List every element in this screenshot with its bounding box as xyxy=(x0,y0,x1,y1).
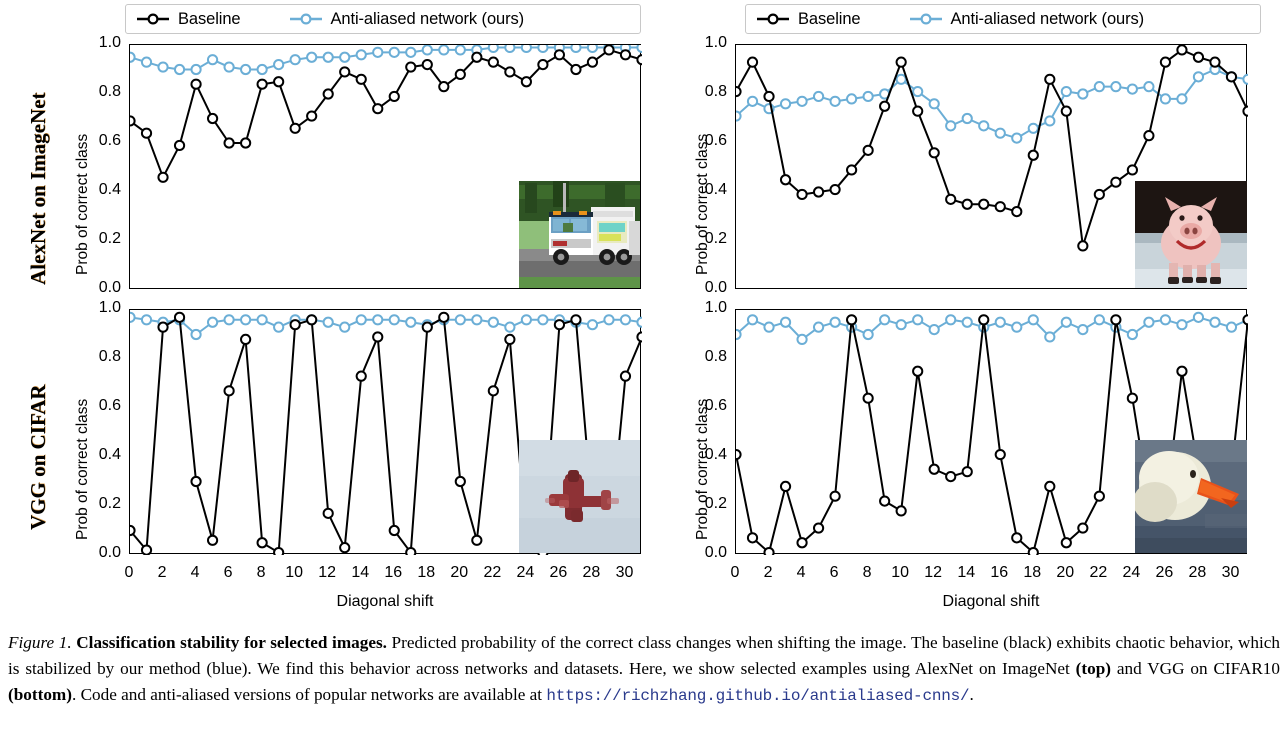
data-point-marker xyxy=(158,173,167,182)
data-point-marker xyxy=(208,55,217,64)
data-point-marker xyxy=(142,58,151,67)
x-axis-label: Diagonal shift xyxy=(735,593,1247,611)
data-point-marker xyxy=(979,315,988,324)
legend-line-marker-icon xyxy=(136,12,170,26)
data-point-marker xyxy=(814,187,823,196)
data-point-marker xyxy=(1144,82,1153,91)
data-point-marker xyxy=(1210,58,1219,67)
data-point-marker xyxy=(571,315,580,324)
data-point-marker xyxy=(340,53,349,62)
data-point-marker xyxy=(522,315,531,324)
data-point-marker xyxy=(472,315,481,324)
y-tick-label: 1.0 xyxy=(683,34,727,52)
data-point-marker xyxy=(1062,538,1071,547)
data-point-marker xyxy=(423,60,432,69)
data-point-marker xyxy=(864,146,873,155)
data-point-marker xyxy=(979,121,988,130)
data-point-marker xyxy=(505,323,514,332)
data-point-marker xyxy=(1095,82,1104,91)
data-point-marker xyxy=(258,315,267,324)
data-point-marker xyxy=(880,102,889,111)
data-point-marker xyxy=(175,313,184,322)
figure-1-root: Baseline Anti-aliased network (ours) Bas… xyxy=(0,0,1286,745)
data-point-marker xyxy=(748,58,757,67)
legend-label-baseline: Baseline xyxy=(178,10,241,29)
legend-entry-antialiased-right: Anti-aliased network (ours) xyxy=(909,10,1145,29)
data-point-marker xyxy=(847,165,856,174)
data-point-marker xyxy=(208,114,217,123)
caption-bold-top: (top) xyxy=(1076,659,1111,678)
data-point-marker xyxy=(1128,330,1137,339)
data-point-marker xyxy=(1210,318,1219,327)
data-point-marker xyxy=(1177,320,1186,329)
x-tick-label: 30 xyxy=(1210,564,1250,582)
data-point-marker xyxy=(880,315,889,324)
series-line xyxy=(130,50,642,177)
legend-line-marker-icon xyxy=(756,12,790,26)
data-point-marker xyxy=(208,536,217,545)
y-tick-label: 0.0 xyxy=(683,544,727,562)
data-point-marker xyxy=(814,92,823,101)
y-tick-label: 0.2 xyxy=(683,495,727,513)
data-point-marker xyxy=(1194,72,1203,81)
figure-caption: Figure 1. Classification stability for s… xyxy=(8,630,1280,709)
data-point-marker xyxy=(831,185,840,194)
y-tick-label: 0.6 xyxy=(683,132,727,150)
data-point-marker xyxy=(1045,332,1054,341)
data-point-marker xyxy=(538,60,547,69)
data-point-marker xyxy=(373,315,382,324)
data-point-marker xyxy=(456,70,465,79)
data-point-marker xyxy=(505,67,514,76)
data-point-marker xyxy=(1177,45,1186,54)
data-point-marker xyxy=(1078,89,1087,98)
data-point-marker xyxy=(831,318,840,327)
data-point-marker xyxy=(930,99,939,108)
caption-text-3: . Code and anti-aliased versions of popu… xyxy=(72,685,546,704)
data-point-marker xyxy=(307,315,316,324)
data-point-marker xyxy=(406,62,415,71)
data-point-marker xyxy=(130,313,135,322)
data-point-marker xyxy=(621,372,630,381)
data-point-marker xyxy=(736,450,741,459)
data-point-marker xyxy=(1029,124,1038,133)
data-point-marker xyxy=(505,335,514,344)
caption-url-link[interactable]: https://richzhang.github.io/antialiased-… xyxy=(546,687,969,705)
caption-title: Classification stability for selected im… xyxy=(76,633,387,652)
data-point-marker xyxy=(324,89,333,98)
series-line xyxy=(736,70,1248,139)
data-point-marker xyxy=(748,315,757,324)
data-point-marker xyxy=(307,53,316,62)
data-point-marker xyxy=(357,315,366,324)
data-point-marker xyxy=(930,148,939,157)
legend-line-marker-icon xyxy=(909,12,943,26)
y-tick-label: 0.2 xyxy=(77,495,121,513)
y-tick-label: 0.6 xyxy=(77,397,121,415)
data-point-marker xyxy=(158,62,167,71)
data-point-marker xyxy=(439,45,448,54)
legend-entry-baseline-right: Baseline xyxy=(756,10,861,29)
data-point-marker xyxy=(996,450,1005,459)
caption-text-4: . xyxy=(969,685,973,704)
series-line xyxy=(130,47,642,69)
data-point-marker xyxy=(963,114,972,123)
y-axis-label: Prob of correct class xyxy=(694,134,712,275)
y-tick-label: 0.8 xyxy=(683,83,727,101)
data-point-marker xyxy=(781,99,790,108)
data-point-marker xyxy=(130,116,135,125)
legend-label-antialiased: Anti-aliased network (ours) xyxy=(331,10,525,29)
data-point-marker xyxy=(1029,151,1038,160)
data-point-marker xyxy=(864,92,873,101)
series-antialiased xyxy=(736,65,1248,143)
data-point-marker xyxy=(390,526,399,535)
garbage-truck-photo-graphic xyxy=(519,181,640,288)
data-point-marker xyxy=(390,92,399,101)
y-tick-label: 0.4 xyxy=(77,446,121,464)
data-point-marker xyxy=(996,318,1005,327)
data-point-marker xyxy=(406,548,415,555)
data-point-marker xyxy=(946,472,955,481)
data-point-marker xyxy=(930,465,939,474)
data-point-marker xyxy=(373,104,382,113)
data-point-marker xyxy=(1177,367,1186,376)
series-antialiased xyxy=(130,313,642,339)
data-point-marker xyxy=(1194,53,1203,62)
y-tick-label: 1.0 xyxy=(77,34,121,52)
data-point-marker xyxy=(340,323,349,332)
data-point-marker xyxy=(225,315,234,324)
data-point-marker xyxy=(130,53,135,62)
data-point-marker xyxy=(963,467,972,476)
legend-label-baseline: Baseline xyxy=(798,10,861,29)
data-point-marker xyxy=(1161,315,1170,324)
data-point-marker xyxy=(555,320,564,329)
data-point-marker xyxy=(604,315,613,324)
data-point-marker xyxy=(764,92,773,101)
y-axis-label: Prob of correct class xyxy=(74,399,92,540)
data-point-marker xyxy=(324,53,333,62)
data-point-marker xyxy=(1111,82,1120,91)
data-point-marker xyxy=(225,386,234,395)
row-label-vgg-cifar: VGG on CIFAR xyxy=(26,385,51,530)
series-baseline xyxy=(130,45,642,182)
data-point-marker xyxy=(797,538,806,547)
data-point-marker xyxy=(522,77,531,86)
legend-entry-antialiased-left: Anti-aliased network (ours) xyxy=(289,10,525,29)
y-tick-label: 0.0 xyxy=(77,544,121,562)
y-tick-label: 0.6 xyxy=(683,397,727,415)
y-axis-label: Prob of correct class xyxy=(74,134,92,275)
y-tick-label: 0.4 xyxy=(683,181,727,199)
series-line xyxy=(130,317,642,334)
data-point-marker xyxy=(522,45,531,52)
inset-garbage-truck-photo xyxy=(519,181,640,288)
data-point-marker xyxy=(390,48,399,57)
data-point-marker xyxy=(1111,315,1120,324)
data-point-marker xyxy=(1128,165,1137,174)
data-point-marker xyxy=(1062,318,1071,327)
data-point-marker xyxy=(814,323,823,332)
data-point-marker xyxy=(897,320,906,329)
y-tick-label: 0.0 xyxy=(683,279,727,297)
data-point-marker xyxy=(158,323,167,332)
data-point-marker xyxy=(142,315,151,324)
data-point-marker xyxy=(489,386,498,395)
data-point-marker xyxy=(831,492,840,501)
data-point-marker xyxy=(472,53,481,62)
data-point-marker xyxy=(208,318,217,327)
inset-duck-cifar-photo xyxy=(1135,440,1247,553)
data-point-marker xyxy=(1095,190,1104,199)
data-point-marker xyxy=(946,121,955,130)
data-point-marker xyxy=(1144,318,1153,327)
data-point-marker xyxy=(472,536,481,545)
legend-entry-baseline-left: Baseline xyxy=(136,10,241,29)
data-point-marker xyxy=(637,318,642,327)
data-point-marker xyxy=(456,45,465,54)
data-point-marker xyxy=(1177,94,1186,103)
data-point-marker xyxy=(781,175,790,184)
data-point-marker xyxy=(324,318,333,327)
data-point-marker xyxy=(258,538,267,547)
data-point-marker xyxy=(489,58,498,67)
data-point-marker xyxy=(1161,58,1170,67)
data-point-marker xyxy=(130,526,135,535)
y-tick-label: 1.0 xyxy=(77,299,121,317)
data-point-marker xyxy=(191,330,200,339)
data-point-marker xyxy=(439,313,448,322)
data-point-marker xyxy=(1161,94,1170,103)
data-point-marker xyxy=(1012,323,1021,332)
data-point-marker xyxy=(880,497,889,506)
data-point-marker xyxy=(1243,315,1248,324)
data-point-marker xyxy=(963,318,972,327)
data-point-marker xyxy=(1029,548,1038,555)
data-point-marker xyxy=(748,533,757,542)
series-line xyxy=(736,317,1248,339)
data-point-marker xyxy=(1128,85,1137,94)
data-point-marker xyxy=(340,67,349,76)
data-point-marker xyxy=(913,315,922,324)
data-point-marker xyxy=(538,45,547,52)
data-point-marker xyxy=(588,58,597,67)
data-point-marker xyxy=(897,506,906,515)
data-point-marker xyxy=(637,45,642,52)
data-point-marker xyxy=(1128,394,1137,403)
data-point-marker xyxy=(357,75,366,84)
data-point-marker xyxy=(621,315,630,324)
data-point-marker xyxy=(814,523,823,532)
y-tick-label: 0.6 xyxy=(77,132,121,150)
y-tick-label: 0.2 xyxy=(683,230,727,248)
data-point-marker xyxy=(946,315,955,324)
data-point-marker xyxy=(340,543,349,552)
y-tick-label: 0.0 xyxy=(77,279,121,297)
data-point-marker xyxy=(1012,134,1021,143)
pig-photo-graphic xyxy=(1135,181,1247,288)
data-point-marker xyxy=(847,315,856,324)
series-antialiased xyxy=(736,313,1248,344)
data-point-marker xyxy=(913,87,922,96)
data-point-marker xyxy=(274,548,283,555)
data-point-marker xyxy=(797,190,806,199)
data-point-marker xyxy=(538,315,547,324)
data-point-marker xyxy=(489,318,498,327)
data-point-marker xyxy=(1144,131,1153,140)
data-point-marker xyxy=(1243,75,1248,84)
data-point-marker xyxy=(241,335,250,344)
data-point-marker xyxy=(456,477,465,486)
data-point-marker xyxy=(1227,323,1236,332)
data-point-marker xyxy=(571,65,580,74)
data-point-marker xyxy=(373,48,382,57)
data-point-marker xyxy=(1243,107,1248,116)
data-point-marker xyxy=(423,45,432,54)
data-point-marker xyxy=(191,80,200,89)
data-point-marker xyxy=(406,48,415,57)
data-point-marker xyxy=(225,62,234,71)
data-point-marker xyxy=(764,323,773,332)
data-point-marker xyxy=(142,129,151,138)
data-point-marker xyxy=(241,138,250,147)
data-point-marker xyxy=(505,45,514,52)
data-point-marker xyxy=(1045,482,1054,491)
data-point-marker xyxy=(555,50,564,59)
data-point-marker xyxy=(913,107,922,116)
data-point-marker xyxy=(307,111,316,120)
data-point-marker xyxy=(571,45,580,52)
data-point-marker xyxy=(781,318,790,327)
data-point-marker xyxy=(897,58,906,67)
data-point-marker xyxy=(1227,72,1236,81)
caption-text-2: and VGG on CIFAR10 xyxy=(1111,659,1280,678)
data-point-marker xyxy=(963,200,972,209)
data-point-marker xyxy=(1078,241,1087,250)
data-point-marker xyxy=(175,65,184,74)
data-point-marker xyxy=(225,138,234,147)
data-point-marker xyxy=(847,94,856,103)
data-point-marker xyxy=(864,330,873,339)
data-point-marker xyxy=(996,202,1005,211)
duck-cifar-photo-graphic xyxy=(1135,440,1247,553)
data-point-marker xyxy=(1029,315,1038,324)
y-tick-label: 1.0 xyxy=(683,299,727,317)
data-point-marker xyxy=(1095,492,1104,501)
data-point-marker xyxy=(637,332,642,341)
data-point-marker xyxy=(357,372,366,381)
data-point-marker xyxy=(588,320,597,329)
data-point-marker xyxy=(1078,325,1087,334)
data-point-marker xyxy=(390,315,399,324)
data-point-marker xyxy=(996,129,1005,138)
data-point-marker xyxy=(439,82,448,91)
data-point-marker xyxy=(274,77,283,86)
data-point-marker xyxy=(1062,87,1071,96)
data-point-marker xyxy=(1111,178,1120,187)
data-point-marker xyxy=(191,65,200,74)
y-axis-label: Prob of correct class xyxy=(694,399,712,540)
data-point-marker xyxy=(1194,313,1203,322)
data-point-marker xyxy=(831,97,840,106)
legend-right: Baseline Anti-aliased network (ours) xyxy=(745,4,1261,34)
data-point-marker xyxy=(373,332,382,341)
data-point-marker xyxy=(748,97,757,106)
inset-airplane-cifar-photo xyxy=(519,440,640,553)
data-point-marker xyxy=(1045,75,1054,84)
data-point-marker xyxy=(781,482,790,491)
data-point-marker xyxy=(191,477,200,486)
data-point-marker xyxy=(357,50,366,59)
data-point-marker xyxy=(797,335,806,344)
y-tick-label: 0.8 xyxy=(77,83,121,101)
data-point-marker xyxy=(291,320,300,329)
data-point-marker xyxy=(258,80,267,89)
data-point-marker xyxy=(797,97,806,106)
data-point-marker xyxy=(930,325,939,334)
data-point-marker xyxy=(637,55,642,64)
airplane-cifar-photo-graphic xyxy=(519,440,640,553)
data-point-marker xyxy=(274,60,283,69)
x-tick-label: 30 xyxy=(604,564,644,582)
caption-figure-number: Figure 1. xyxy=(8,633,72,652)
data-point-marker xyxy=(175,141,184,150)
data-point-marker xyxy=(979,200,988,209)
inset-pig-photo xyxy=(1135,181,1247,288)
data-point-marker xyxy=(274,323,283,332)
y-tick-label: 0.4 xyxy=(683,446,727,464)
data-point-marker xyxy=(913,367,922,376)
data-point-marker xyxy=(1062,107,1071,116)
data-point-marker xyxy=(1045,116,1054,125)
data-point-marker xyxy=(258,65,267,74)
data-point-marker xyxy=(604,45,613,54)
data-point-marker xyxy=(864,394,873,403)
data-point-marker xyxy=(406,318,415,327)
y-tick-label: 0.8 xyxy=(77,348,121,366)
data-point-marker xyxy=(946,195,955,204)
data-point-marker xyxy=(1012,207,1021,216)
data-point-marker xyxy=(1012,533,1021,542)
legend-label-antialiased: Anti-aliased network (ours) xyxy=(951,10,1145,29)
data-point-marker xyxy=(142,546,151,555)
data-point-marker xyxy=(764,548,773,555)
data-point-marker xyxy=(897,75,906,84)
caption-bold-bottom: (bottom) xyxy=(8,685,72,704)
data-point-marker xyxy=(423,323,432,332)
data-point-marker xyxy=(324,509,333,518)
data-point-marker xyxy=(588,45,597,52)
data-point-marker xyxy=(241,315,250,324)
data-point-marker xyxy=(1095,315,1104,324)
data-point-marker xyxy=(736,111,741,120)
data-point-marker xyxy=(621,50,630,59)
data-point-marker xyxy=(489,45,498,52)
row-label-alexnet-imagenet: AlexNet on ImageNet xyxy=(26,93,51,285)
data-point-marker xyxy=(1078,523,1087,532)
data-point-marker xyxy=(456,315,465,324)
legend-line-marker-icon xyxy=(289,12,323,26)
legend-left: Baseline Anti-aliased network (ours) xyxy=(125,4,641,34)
data-point-marker xyxy=(736,87,741,96)
data-point-marker xyxy=(241,65,250,74)
data-point-marker xyxy=(291,55,300,64)
x-axis-label: Diagonal shift xyxy=(129,593,641,611)
data-point-marker xyxy=(291,124,300,133)
y-tick-label: 0.2 xyxy=(77,230,121,248)
data-point-marker xyxy=(736,330,741,339)
